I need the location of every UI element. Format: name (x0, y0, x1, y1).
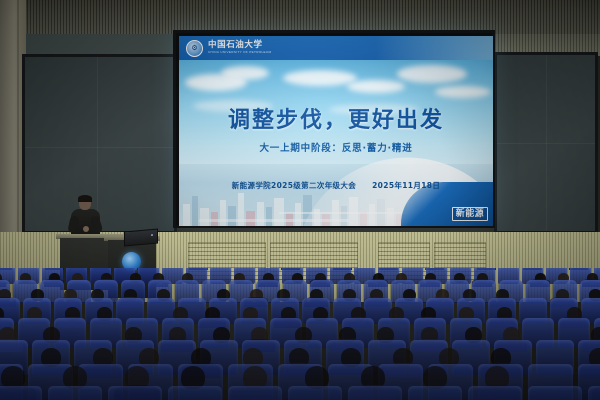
slide-header-bar: ⚙ 中国石油大学 CHINA UNIVERSITY OF PETROLEUM (179, 36, 493, 60)
new-energy-badge: 新能源 (452, 207, 488, 221)
university-seal-icon: ⚙ (186, 40, 203, 57)
auditorium-seat (168, 386, 222, 400)
seal-glyph: ⚙ (191, 45, 197, 52)
auditorium-seat (468, 386, 522, 400)
seated-audience (0, 268, 600, 400)
slide-subtitle: 大一上期中阶段：反思·蓄力·精进 (179, 140, 493, 154)
auditorium-seat (408, 386, 462, 400)
auditorium-seat (0, 386, 42, 400)
presentation-slide: 新能源 ⚙ 中国石油大学 CHINA UNIVERSITY OF PETROLE… (179, 36, 493, 226)
auditorium-photo: 新能源 ⚙ 中国石油大学 CHINA UNIVERSITY OF PETROLE… (0, 0, 600, 400)
auditorium-seat (348, 386, 402, 400)
auditorium-seat (48, 386, 102, 400)
slide-event-name: 新能源学院2025级第二次年级大会 (232, 180, 356, 191)
auditorium-seat (288, 386, 342, 400)
university-name-cn: 中国石油大学 (208, 41, 271, 50)
slide-cityscape: 新能源 (179, 164, 493, 226)
university-name-en: CHINA UNIVERSITY OF PETROLEUM (208, 51, 271, 54)
slide-footer: 新能源学院2025级第二次年级大会 2025年11月18日 (179, 180, 493, 191)
projection-screen: 新能源 ⚙ 中国石油大学 CHINA UNIVERSITY OF PETROLE… (173, 30, 495, 228)
auditorium-seat (588, 386, 600, 400)
confidence-monitor (124, 229, 158, 247)
ceiling-ribbed-panel (0, 0, 600, 34)
auditorium-seat (528, 386, 582, 400)
slide-title: 调整步伐，更好出发 (179, 102, 493, 134)
auditorium-seat (108, 386, 162, 400)
slide-date: 2025年11月18日 (372, 180, 440, 191)
auditorium-seat (228, 386, 282, 400)
right-display-panel (494, 52, 598, 234)
header-gradient (375, 36, 493, 60)
